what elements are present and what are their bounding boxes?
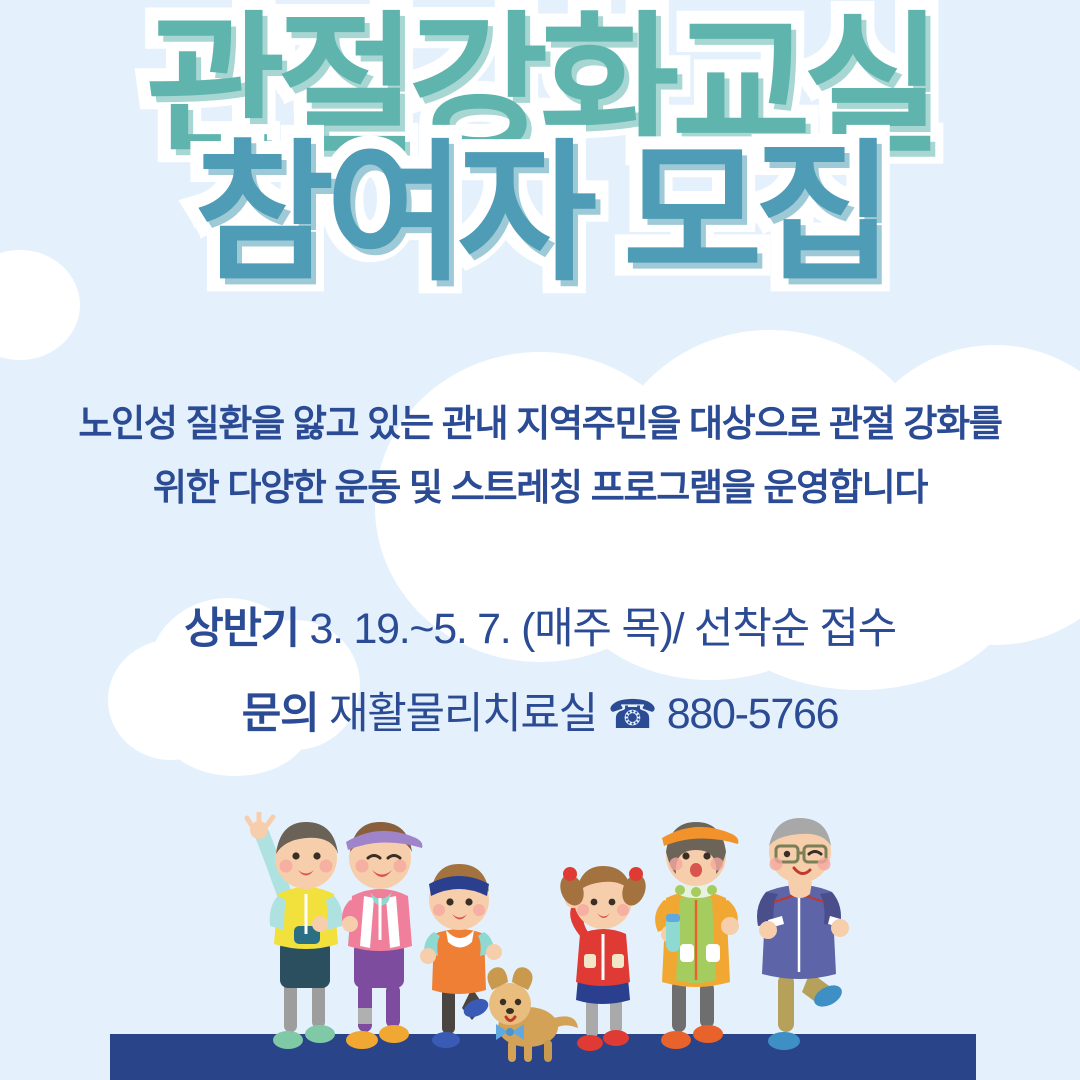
program-description: 노인성 질환을 앓고 있는 관내 지역주민을 대상으로 관절 강화를 위한 다양…	[0, 392, 1080, 519]
figure-man-waving-yellow-hoodie	[247, 813, 342, 1049]
description-line-2: 위한 다양한 운동 및 스트레칭 프로그램을 운영합니다	[0, 456, 1080, 520]
figure-dog-with-bowtie	[487, 967, 578, 1062]
poster-canvas: 관절강화교실 참여자 모집 노인성 질환을 앓고 있는 관내 지역주민을 대상으…	[0, 0, 1080, 1080]
description-line-1: 노인성 질환을 앓고 있는 관내 지역주민을 대상으로 관절 강화를	[0, 392, 1080, 456]
poster-title: 관절강화교실 참여자 모집	[0, 14, 1080, 287]
contact-department: 재활물리치료실	[329, 690, 597, 738]
contact-label: 문의	[242, 690, 319, 738]
figure-woman-purple-visor-pink-jacket	[342, 822, 422, 1049]
contact-line: 문의 재활물리치료실 ☎ 880-5766	[0, 693, 1080, 736]
schedule-label: 상반기	[184, 605, 299, 653]
program-info: 상반기 3. 19.~5. 7. (매주 목)/ 선착순 접수 문의 재활물리치…	[0, 608, 1080, 736]
figure-elderly-man-glasses-blue-jacket	[757, 818, 849, 1050]
schedule-detail: 3. 19.~5. 7. (매주 목)/ 선착순 접수	[310, 605, 896, 653]
figure-woman-orange-visor-green-vest	[655, 822, 739, 1049]
schedule-line: 상반기 3. 19.~5. 7. (매주 목)/ 선착순 접수	[0, 608, 1080, 651]
contact-phone-number: 880-5766	[667, 690, 838, 738]
walking-exercise-group-illustration	[228, 812, 868, 1080]
figure-boy-blue-headband-orange-shirt	[420, 864, 502, 1048]
telephone-icon: ☎	[608, 693, 657, 737]
